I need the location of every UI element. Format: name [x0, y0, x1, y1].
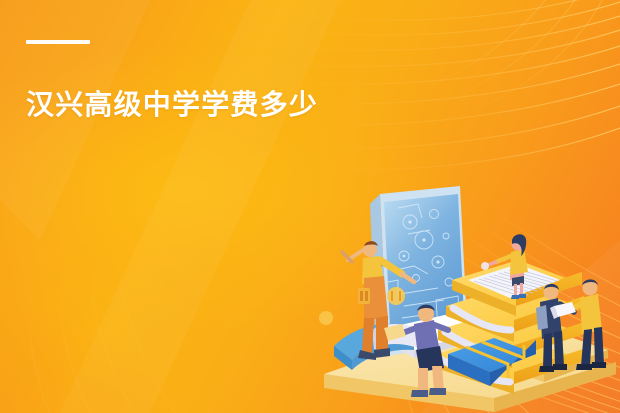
education-isometric-illustration — [318, 178, 620, 413]
page-title: 汉兴高级中学学费多少 — [26, 88, 446, 122]
white-divider-rule — [26, 40, 90, 44]
promo-banner: 汉兴高级中学学费多少 — [0, 0, 620, 413]
text-block: 汉兴高级中学学费多少 — [26, 40, 446, 122]
